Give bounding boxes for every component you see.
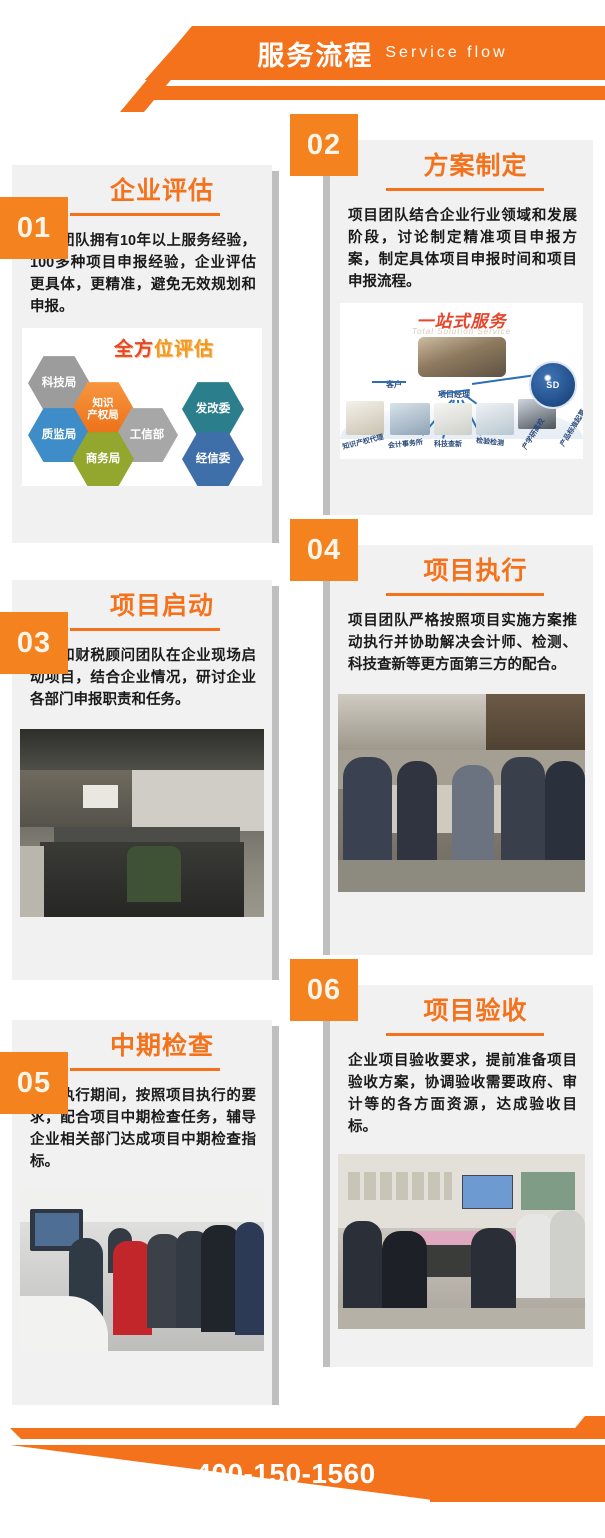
step-number-badge-02: 02	[290, 114, 358, 176]
hex-fagai-wei: 发改委	[182, 382, 244, 436]
acceptance-meeting-photo	[338, 1154, 585, 1329]
step-number-badge-06: 06	[290, 959, 358, 1021]
hotline-label: 全国统一热线：	[74, 1462, 193, 1486]
hex-diagram-title: 全方位评估	[114, 334, 214, 361]
card-shadow	[323, 551, 330, 955]
card-shadow	[272, 586, 279, 980]
node-ip-agency	[346, 401, 384, 435]
team-photo-hub	[418, 337, 506, 377]
one-stop-service-diagram: 一站式服务 Total Solution Service 客户 项目经理	[340, 303, 583, 459]
caption-inspection: 检验检测	[476, 436, 505, 449]
node-accounting	[390, 403, 430, 435]
step-number-badge-03: 03	[0, 612, 68, 674]
step-body-04: 项目团队严格按照项目实施方案推动执行并协助解决会计师、检测、科技查新等更方面第三…	[330, 596, 593, 686]
header-title-group: 服务流程 Service flow	[160, 26, 605, 80]
step-title-02: 方案制定	[366, 140, 585, 182]
step-title-05: 中期检查	[58, 1020, 266, 1062]
assessment-hex-diagram: 全方位评估 科技局 知识 产权局 质监局 工信部 商务局 发改委 经信委	[22, 328, 262, 486]
step-number-badge-05: 05	[0, 1052, 68, 1114]
caption-accounting: 会计事务所	[388, 437, 424, 451]
card-shadow	[272, 1026, 279, 1405]
step-body-06: 企业项目验收要求，提前准备项目验收方案，协调验收需要政府、审计等的各方面资源，达…	[330, 1036, 593, 1148]
hotline-group: 全国统一热线： 400-150-1560	[10, 1445, 440, 1502]
step-card-05[interactable]: 05 中期检查 项目执行期间，按照项目执行的要求，配合项目中期检查任务，辅导企业…	[12, 1020, 272, 1405]
step-card-03[interactable]: 03 项目启动 项目和财税顾问团队在企业现场启动项目，结合企业情况，研讨企业各部…	[12, 580, 272, 980]
card-shadow	[323, 146, 330, 515]
card-shadow	[272, 171, 279, 543]
page-title: 服务流程	[257, 34, 373, 73]
node-inspection	[476, 403, 514, 435]
step-title-01: 企业评估	[58, 165, 266, 207]
hex-jingxin-wei: 经信委	[182, 432, 244, 486]
step-title-06: 项目验收	[366, 985, 585, 1027]
service-flow-infographic: 服务流程 Service flow 01 企业评估 项目团队拥有10年以上服务经…	[0, 0, 605, 1538]
execution-meeting-photo	[338, 694, 585, 892]
one-stop-subtitle: Total Solution Service	[412, 327, 511, 336]
footer-accent-line	[10, 1428, 605, 1439]
step-title-04: 项目执行	[366, 545, 585, 587]
footer-hotline-bar: 全国统一热线： 400-150-1560	[0, 1416, 605, 1538]
arrow-to-client	[372, 381, 406, 383]
midterm-inspection-photo	[20, 1189, 264, 1351]
step-title-03: 项目启动	[58, 580, 266, 622]
node-tech-search	[434, 403, 472, 435]
header-banner: 服务流程 Service flow	[0, 0, 605, 112]
hotline-number[interactable]: 400-150-1560	[195, 1458, 375, 1490]
step-body-02: 项目团队结合企业行业领域和发展阶段，讨论制定精准项目申报方案，制定具体项目申报时…	[330, 191, 593, 303]
kickoff-meeting-photo	[20, 729, 264, 917]
caption-tech-search: 科技查新	[434, 439, 462, 449]
step-number-badge-01: 01	[0, 197, 68, 259]
step-card-01[interactable]: 01 企业评估 项目团队拥有10年以上服务经验，100多种项目申报经验，企业评估…	[12, 165, 272, 543]
step-card-06[interactable]: 06 项目验收 企业项目验收要求，提前准备项目验收方案，协调验收需要政府、审计等…	[330, 985, 593, 1367]
step-number-badge-04: 04	[290, 519, 358, 581]
step-card-04[interactable]: 04 项目执行 项目团队严格按照项目实施方案推动执行并协助解决会计师、检测、科技…	[330, 545, 593, 955]
step-card-02[interactable]: 02 方案制定 项目团队结合企业行业领域和发展阶段，讨论制定精准项目申报方案，制…	[330, 140, 593, 515]
certification-seal-icon: SD	[529, 361, 577, 409]
page-subtitle: Service flow	[385, 44, 507, 62]
card-shadow	[323, 991, 330, 1367]
header-accent-line	[145, 86, 605, 100]
